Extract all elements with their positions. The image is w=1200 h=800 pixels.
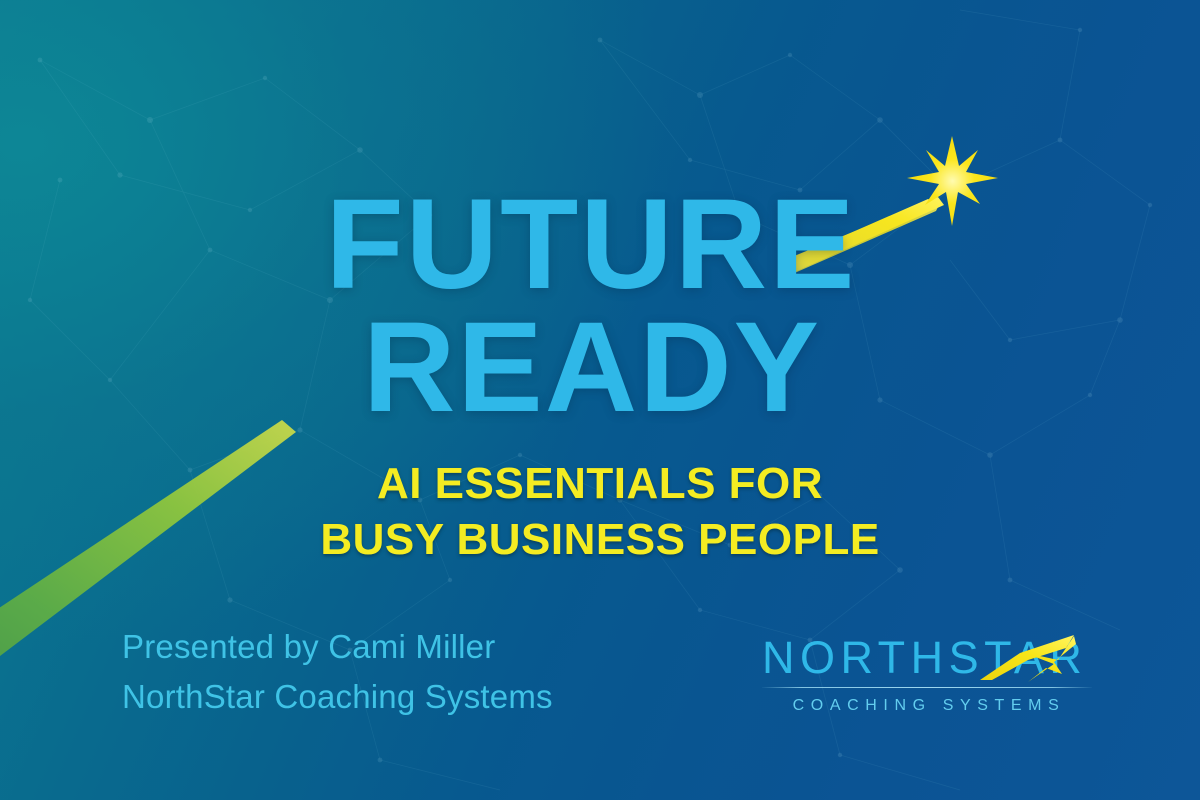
subtitle-line-2: BUSY BUSINESS PEOPLE <box>0 512 1200 568</box>
northstar-logo: NORTHSTAR COACHING SYSTEMS <box>762 632 1092 715</box>
presenter-name: Presented by Cami Miller <box>122 622 553 672</box>
presentation-slide: FUTURE READY AI ESSENTIALS FOR BUSY BUSI… <box>0 0 1200 800</box>
presenter-organization: NorthStar Coaching Systems <box>122 672 553 722</box>
logo-divider-rule <box>762 687 1092 688</box>
shooting-star-icon <box>760 135 1010 300</box>
headline-line-ready: READY <box>0 307 1200 430</box>
logo-tagline: COACHING SYSTEMS <box>762 697 1092 715</box>
slide-subtitle: AI ESSENTIALS FOR BUSY BUSINESS PEOPLE <box>0 456 1200 569</box>
slide-headline: FUTURE READY <box>0 184 1200 430</box>
logo-wordmark: NORTHSTAR <box>762 632 1092 684</box>
logo-wordmark-row: NORTHSTAR <box>762 632 1092 684</box>
presenter-credit: Presented by Cami Miller NorthStar Coach… <box>122 622 553 721</box>
headline-line-future: FUTURE <box>0 184 1200 307</box>
subtitle-line-1: AI ESSENTIALS FOR <box>0 456 1200 512</box>
